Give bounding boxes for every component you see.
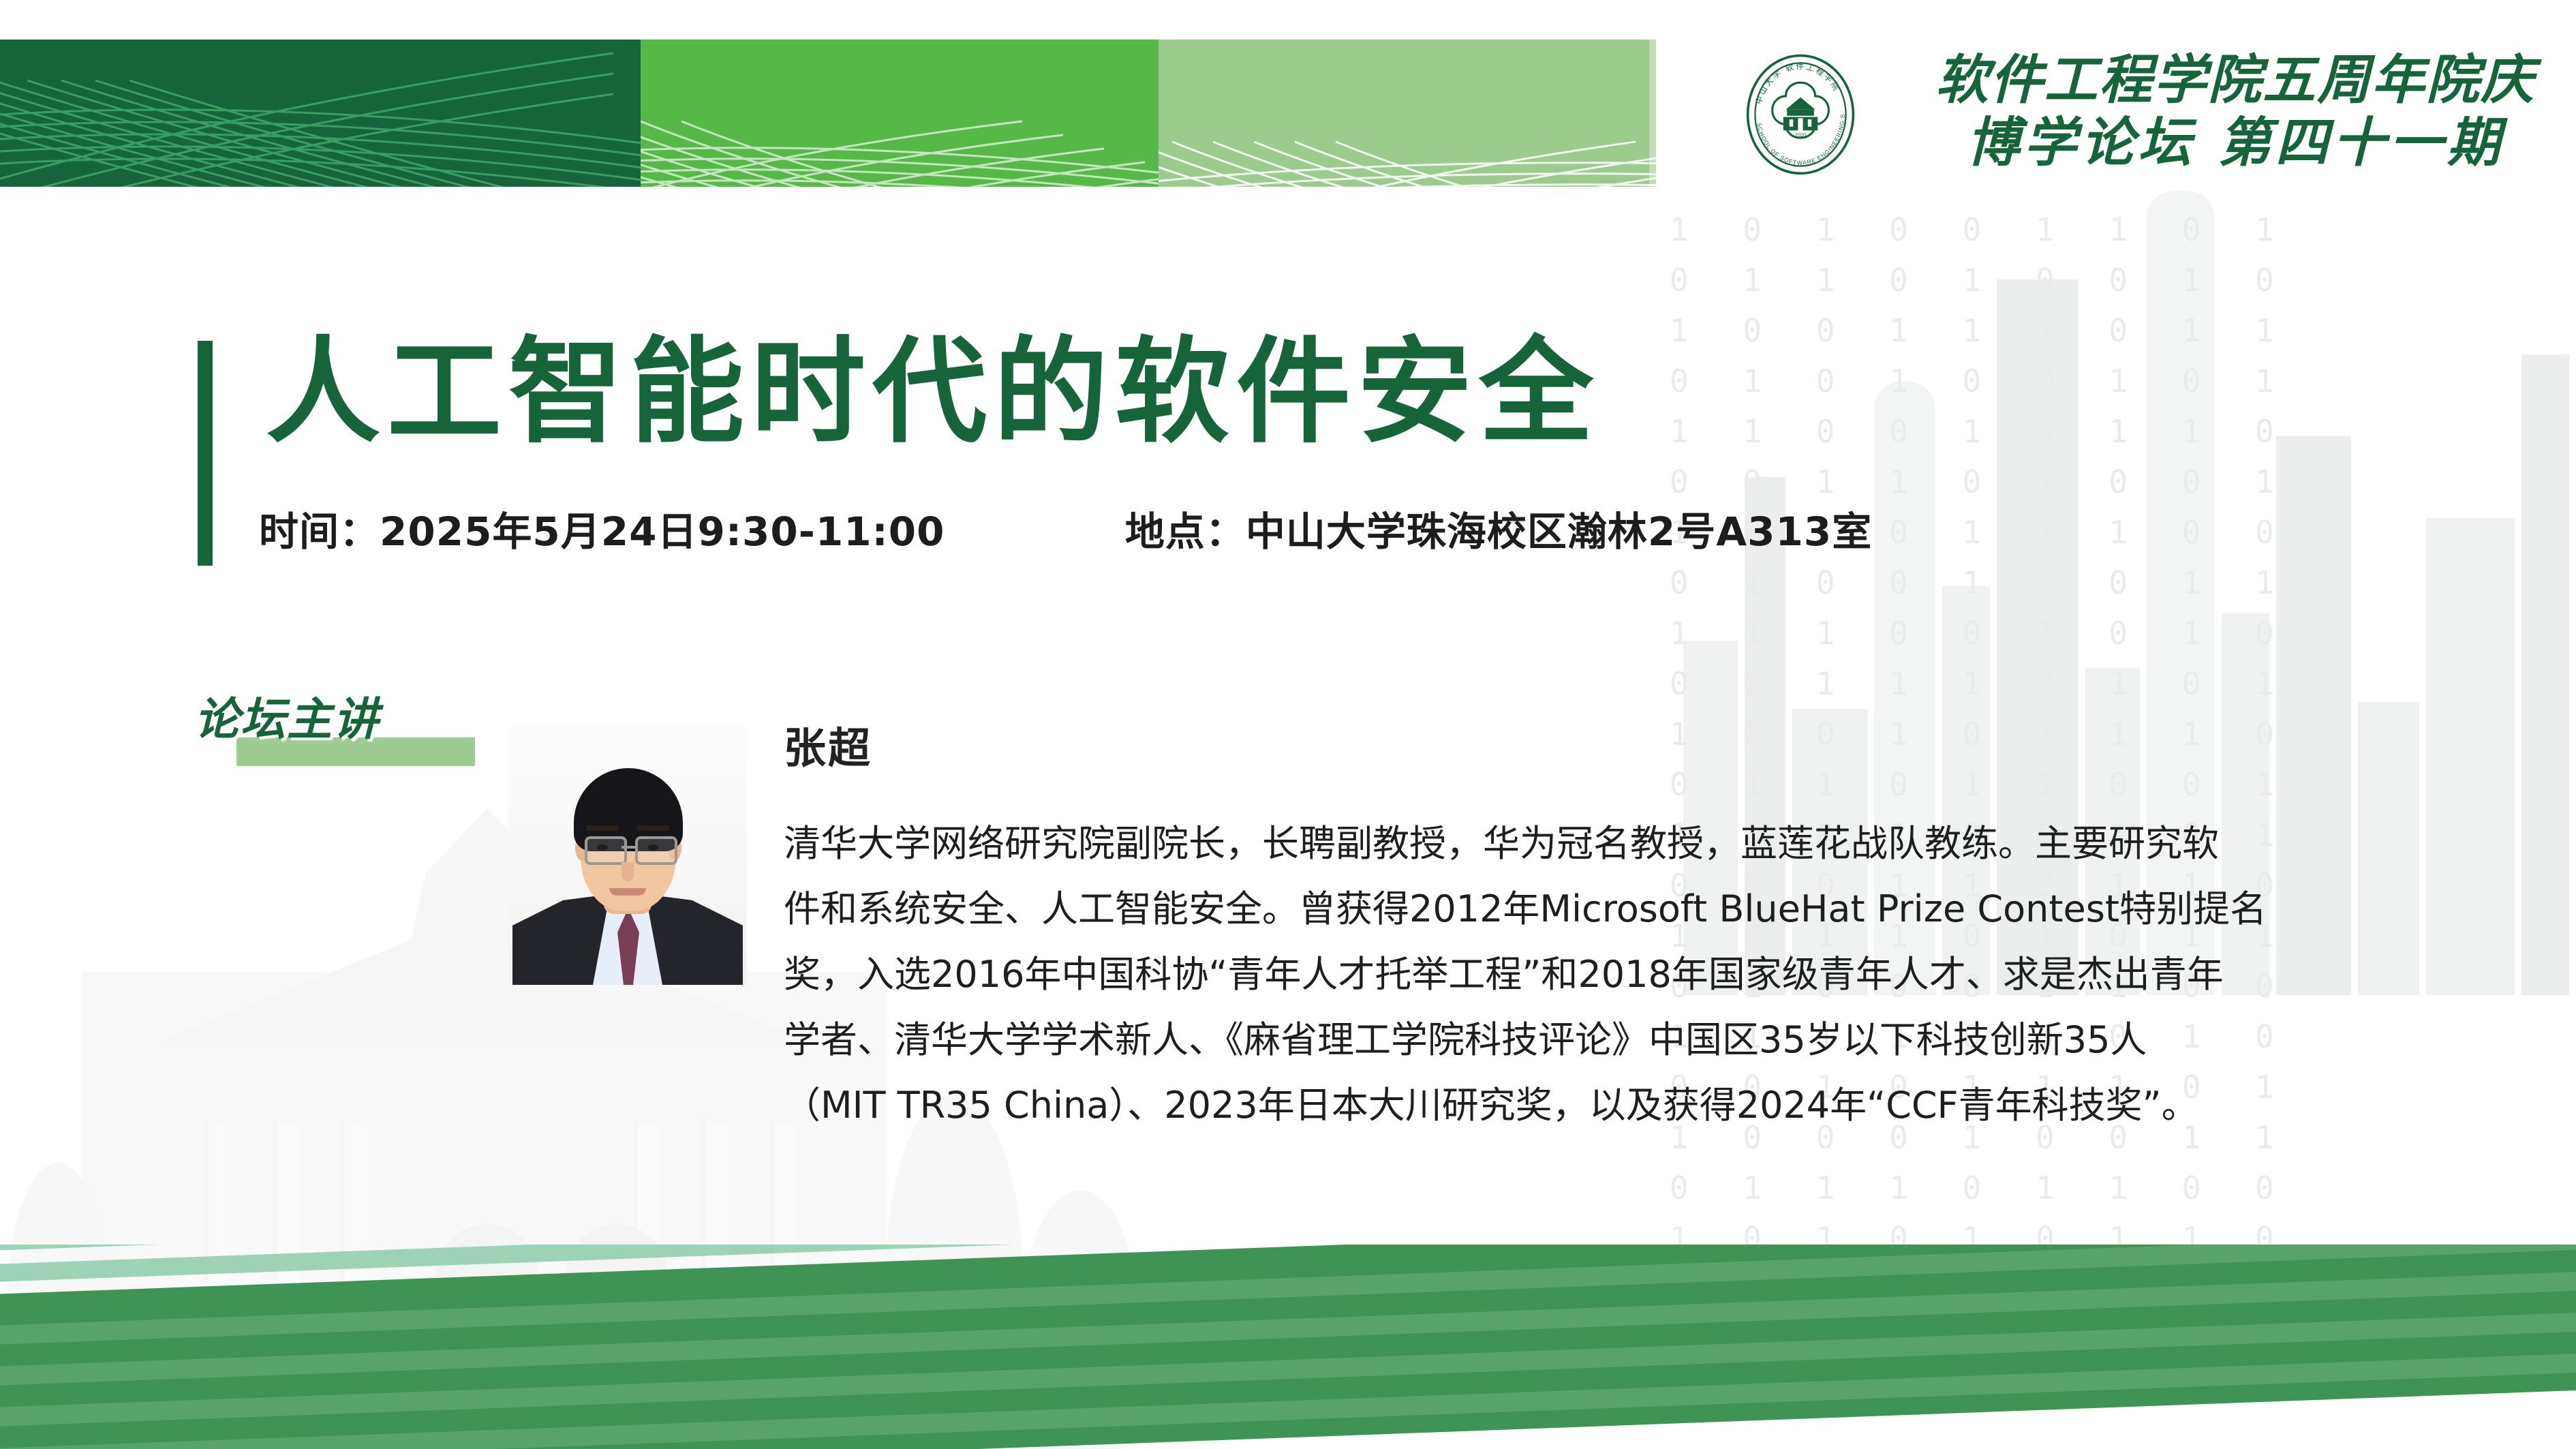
speaker-bio: 清华大学网络研究院副院长，长聘副教授，华为冠名教授，蓝莲花战队教练。主要研究软 … [784, 811, 2467, 1138]
bio-line: 清华大学网络研究院副院长，长聘副教授，华为冠名教授，蓝莲花战队教练。主要研究软 [784, 811, 2467, 876]
bio-line: （MIT TR35 China）、2023年日本大川研究奖，以及获得2024年“… [784, 1073, 2467, 1138]
event-time: 时间：2025年5月24日9:30-11:00 [259, 504, 945, 559]
speaker-tag-label: 论坛主讲 [194, 695, 380, 744]
bio-line: 件和系统安全、人工智能安全。曾获得2012年Microsoft BlueHat … [784, 876, 2467, 942]
title-accent-bar [198, 341, 213, 566]
footer-decoration [0, 1245, 2576, 1449]
speaker-name: 张超 [784, 724, 872, 773]
page-title: 人工智能时代的软件安全 [266, 327, 1600, 457]
bio-line: 学者、清华大学学术新人、《麻省理工学院科技评论》中国区35岁以下科技创新35人 [784, 1007, 2467, 1073]
sysu-sse-logo-icon: 2020 中山大学 软件工程学院 SCHOOL OF SOFTWARE ENGI… [1739, 53, 1862, 176]
bio-line: 奖，入选2016年中国科协“青年人才托举工程”和2018年国家级青年人才、求是杰… [784, 942, 2467, 1007]
speaker-section-tag: 论坛主讲 [194, 695, 480, 770]
header-mesh-lines [0, 40, 1922, 187]
event-meta-row: 时间：2025年5月24日9:30-11:00 地点：中山大学珠海校区瀚林2号A… [259, 504, 2031, 559]
poster-root: 1 0 1 0 0 1 1 0 1 0 1 1 0 1 0 0 1 0 1 0 … [0, 0, 2576, 1449]
speaker-photo [508, 726, 747, 985]
header-title-line2: 博学论坛 第四十一期 [1901, 112, 2569, 174]
header-title-line1: 软件工程学院五周年院庆 [1901, 49, 2569, 112]
svg-text:2020: 2020 [1795, 132, 1806, 138]
header-title-group: 软件工程学院五周年院庆 博学论坛 第四十一期 [1901, 49, 2569, 174]
event-location: 地点：中山大学珠海校区瀚林2号A313室 [1125, 504, 1872, 559]
